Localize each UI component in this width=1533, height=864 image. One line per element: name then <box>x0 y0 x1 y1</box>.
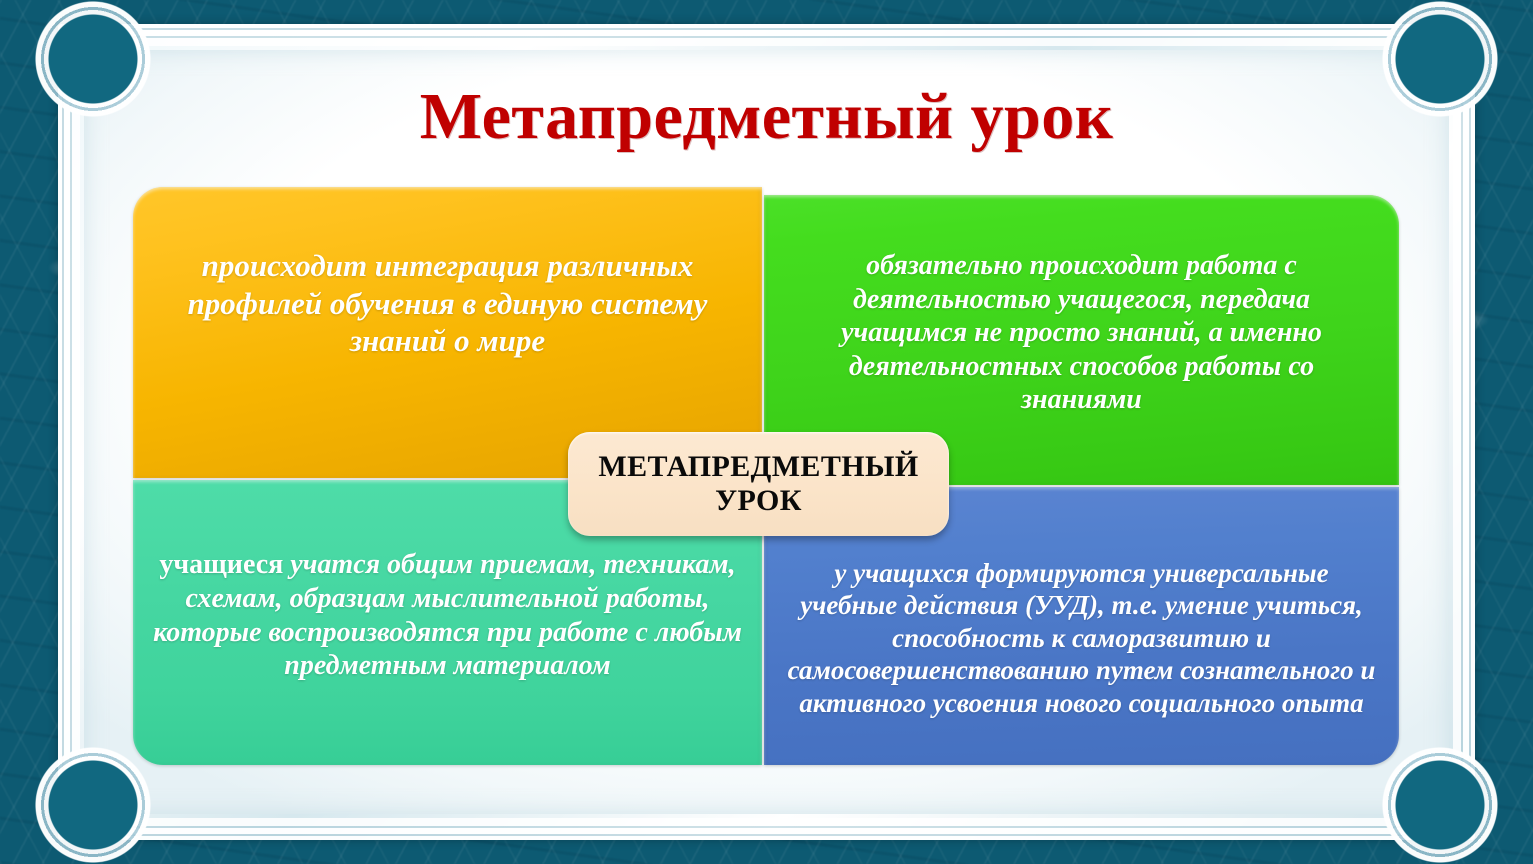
quadrant-bottom-right-text: у учащихся формируются универсальные уче… <box>786 557 1377 719</box>
center-badge-line-2: УРОК <box>715 484 802 517</box>
slide-title: Метапредметный урок <box>0 82 1533 151</box>
quadrant-top-left-text: происходит интеграция различных профилей… <box>149 247 746 360</box>
center-badge-line-1: МЕТАПРЕДМЕТНЫЙ <box>598 450 918 483</box>
slide: Метапредметный урок происходит интеграци… <box>0 0 1533 864</box>
center-badge-label: МЕТАПРЕДМЕТНЫЙУРОК <box>598 450 918 517</box>
quadrant-top-right-text: обязательно происходит работа с деятельн… <box>790 249 1373 417</box>
quadrant-bottom-left-body: учащиеся учатся общим приемам, техникам,… <box>147 548 748 682</box>
quadrant-bottom-left-lead: учащиеся <box>159 549 290 580</box>
center-badge: МЕТАПРЕДМЕТНЫЙУРОК <box>568 432 949 536</box>
